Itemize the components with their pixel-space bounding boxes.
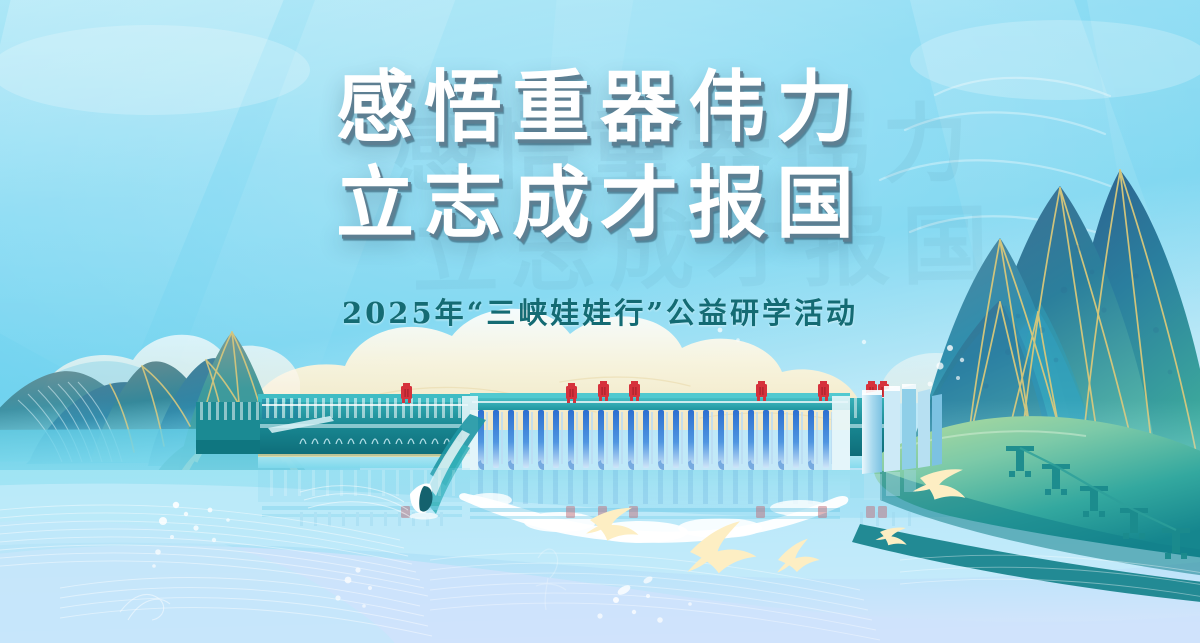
- swallows-icon: [586, 459, 972, 576]
- title-block: 感悟重器伟力 立志成才报国: [0, 62, 1200, 250]
- left-mountain-far: [0, 371, 150, 462]
- boat-icon: [410, 483, 438, 519]
- water-lines-icon: [0, 505, 432, 636]
- left-mountain-ridge: [26, 382, 212, 464]
- green-hill: [874, 416, 1200, 560]
- dam-far-left-block: [196, 402, 260, 454]
- lower-green-bank: [852, 524, 1200, 604]
- crane-reflections: [401, 506, 887, 518]
- lower-reflection-bands: [262, 506, 911, 526]
- title-line-1: 感悟重器伟力: [0, 62, 1200, 154]
- bubbles-icon: [152, 328, 964, 623]
- spillway-foam: [459, 493, 848, 543]
- ship-lock-icon: [862, 384, 942, 500]
- left-mountain-base: [152, 430, 312, 498]
- right-mountain-mid: [912, 238, 1078, 482]
- gold-ridge-lines: [110, 332, 272, 452]
- power-towers-icon: [1006, 446, 1190, 559]
- poster-canvas: 感悟重器伟力 立志成才报国: [0, 0, 1200, 643]
- gold-arc-decor: [172, 430, 308, 494]
- dam-right-wing: [850, 398, 890, 468]
- title-line-2: 立志成才报国: [0, 158, 1200, 250]
- spillway-jets-icon: [478, 410, 833, 470]
- subtitle-text: 2025年“三峡娃娃行”公益研学活动: [0, 290, 1200, 332]
- dam-spillway: [462, 393, 850, 470]
- right-mountain-front: [940, 310, 1104, 480]
- gantry-cranes-icon: [401, 381, 889, 403]
- spillway-right-pier: [832, 396, 850, 470]
- spill-chute: [424, 414, 486, 514]
- spillway-left-pier: [462, 396, 478, 470]
- left-mountain-cone: [178, 332, 286, 472]
- dam-reflection: [258, 468, 896, 510]
- left-mountain-main: [148, 358, 288, 466]
- dam-left-wing: [258, 394, 470, 468]
- left-mountain-peak: [90, 361, 232, 462]
